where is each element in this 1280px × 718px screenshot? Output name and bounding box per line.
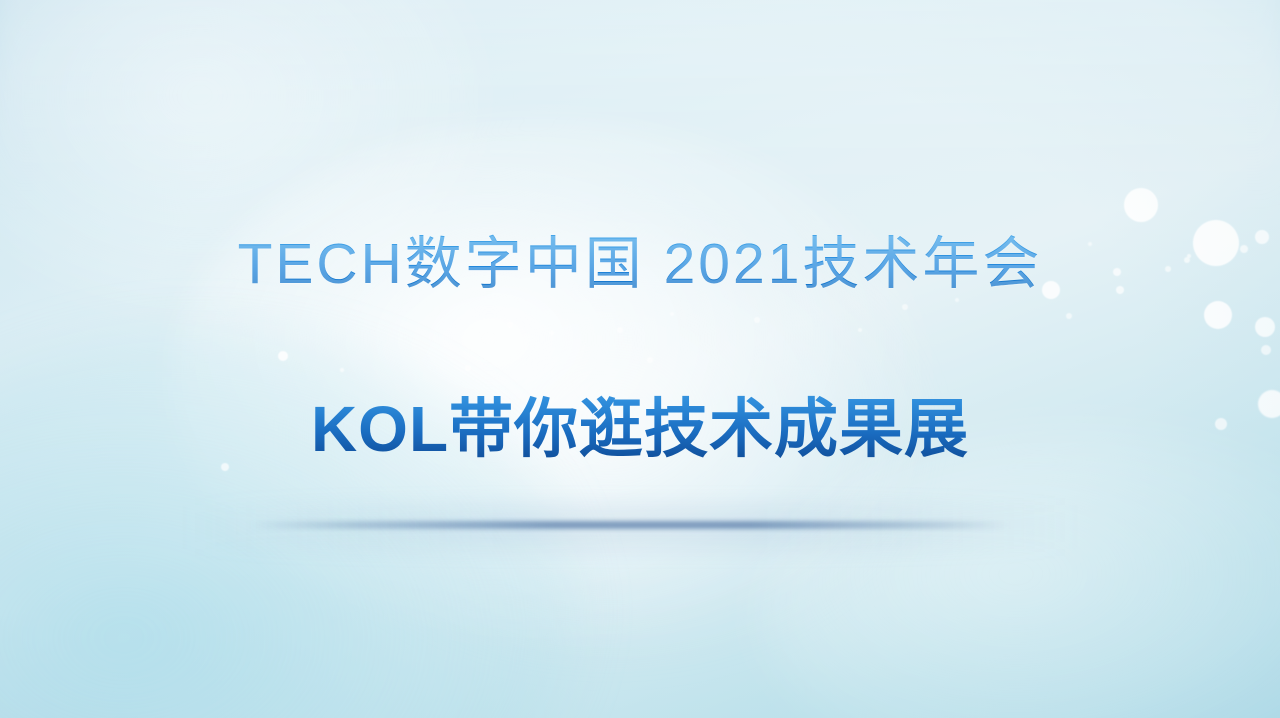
title-block: TECH数字中国 2021技术年会 KOL带你逛技术成果展 xyxy=(0,0,1280,718)
title-card-stage: TECH数字中国 2021技术年会 KOL带你逛技术成果展 xyxy=(0,0,1280,718)
event-subtitle-line-2: KOL带你逛技术成果展 xyxy=(0,378,1280,470)
event-title-line-1: TECH数字中国 2021技术年会 xyxy=(0,218,1280,300)
